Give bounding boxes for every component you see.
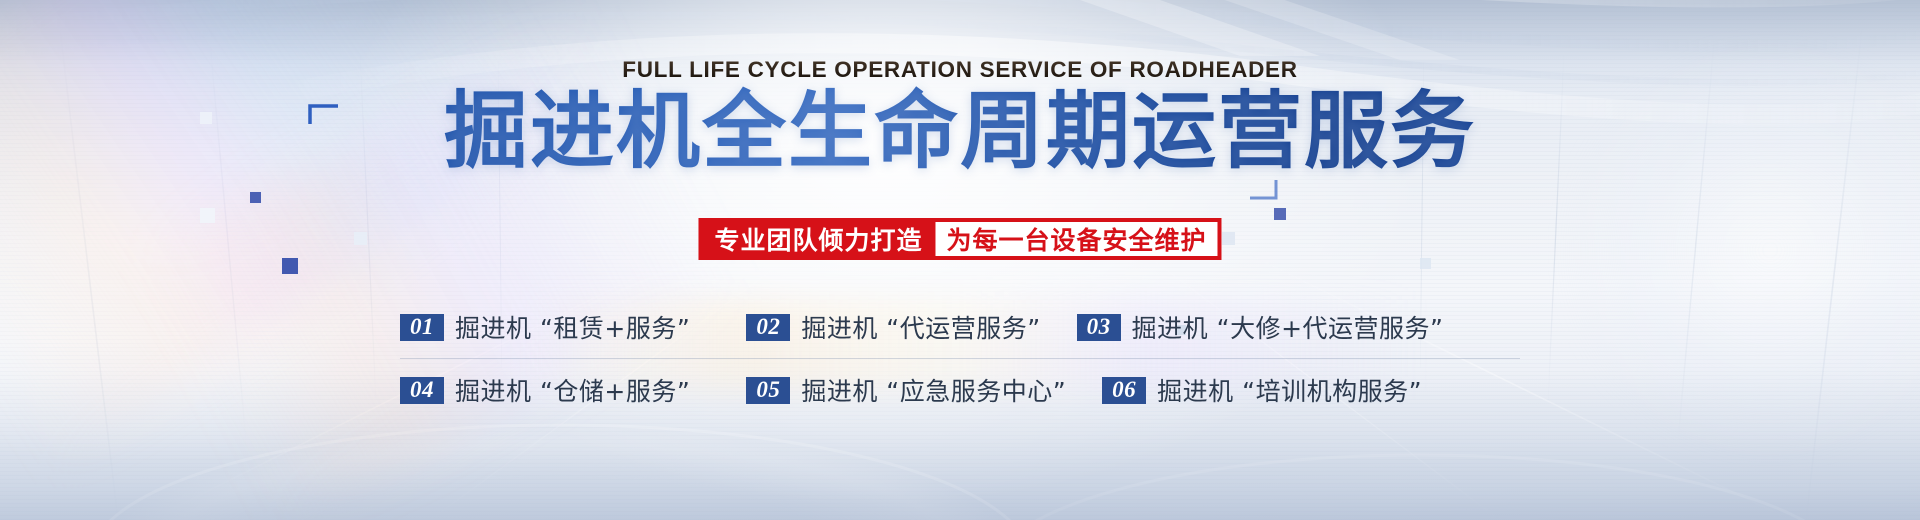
service-item-03[interactable]: 03 掘进机 “大修+代运营服务” <box>1077 309 1444 345</box>
service-item-04[interactable]: 04 掘进机 “仓储+服务” <box>400 372 690 408</box>
english-subtitle: FULL LIFE CYCLE OPERATION SERVICE OF ROA… <box>0 57 1920 83</box>
service-label: 掘进机 “大修+代运营服务” <box>1132 309 1444 345</box>
slogan-ribbon: 专业团队倾力打造 为每一台设备安全维护 <box>698 218 1221 260</box>
service-number-badge: 05 <box>746 377 790 404</box>
slogan-ribbon-left-text: 专业团队倾力打造 <box>702 222 935 256</box>
service-number-badge: 02 <box>746 314 790 341</box>
service-row-1: 01 掘进机 “租赁+服务” 02 掘进机 “代运营服务” 03 掘进机 “大修… <box>400 296 1520 359</box>
service-number-badge: 03 <box>1077 314 1121 341</box>
service-label: 掘进机 “应急服务中心” <box>801 372 1066 408</box>
service-label: 掘进机 “租赁+服务” <box>455 309 690 345</box>
slogan-ribbon-right-text: 为每一台设备安全维护 <box>936 222 1218 256</box>
service-list: 01 掘进机 “租赁+服务” 02 掘进机 “代运营服务” 03 掘进机 “大修… <box>400 296 1520 421</box>
roadheader-service-banner: FULL LIFE CYCLE OPERATION SERVICE OF ROA… <box>0 0 1920 520</box>
service-label: 掘进机 “仓储+服务” <box>455 372 690 408</box>
service-row-2: 04 掘进机 “仓储+服务” 05 掘进机 “应急服务中心” 06 掘进机 “培… <box>400 359 1520 421</box>
main-title: 掘进机全生命周期运营服务 <box>0 86 1920 177</box>
service-item-05[interactable]: 05 掘进机 “应急服务中心” <box>746 372 1066 408</box>
service-label: 掘进机 “代运营服务” <box>801 309 1040 345</box>
service-number-badge: 06 <box>1102 377 1146 404</box>
service-item-06[interactable]: 06 掘进机 “培训机构服务” <box>1102 372 1422 408</box>
service-number-badge: 01 <box>400 314 444 341</box>
service-item-02[interactable]: 02 掘进机 “代运营服务” <box>746 309 1040 345</box>
service-number-badge: 04 <box>400 377 444 404</box>
service-item-01[interactable]: 01 掘进机 “租赁+服务” <box>400 309 690 345</box>
service-label: 掘进机 “培训机构服务” <box>1157 372 1422 408</box>
banner-content: FULL LIFE CYCLE OPERATION SERVICE OF ROA… <box>0 0 1920 520</box>
